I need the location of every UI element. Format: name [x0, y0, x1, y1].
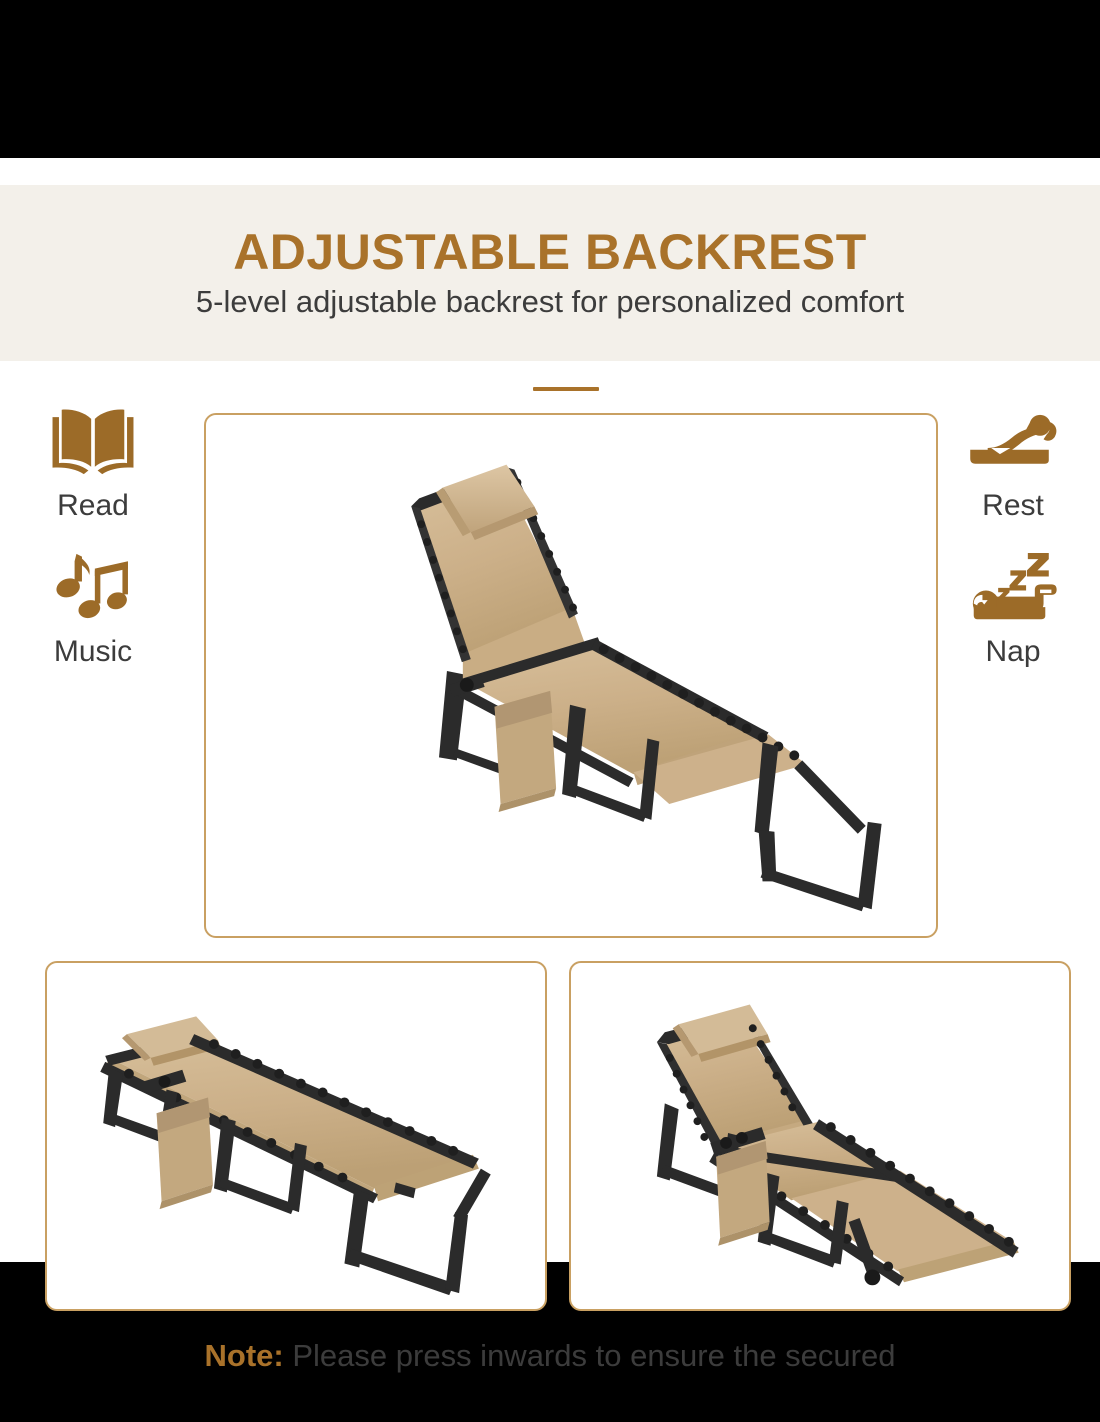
open-book-icon [45, 403, 141, 479]
music-notes-icon [45, 549, 141, 625]
product-panel-flat[interactable] [45, 961, 547, 1311]
person-sleeping-zzz-icon [965, 549, 1061, 625]
person-reclining-icon [965, 403, 1061, 479]
feature-column-left: Read [18, 403, 168, 695]
feature-item-read: Read [45, 403, 141, 521]
note-text: Please press inwards to ensure the secur… [292, 1338, 895, 1373]
section-divider-dash [533, 387, 599, 391]
feature-item-music: Music [45, 549, 141, 667]
product-panel-reclined[interactable] [569, 961, 1071, 1311]
feature-item-nap: Nap [965, 549, 1061, 667]
note-row: Note: Please press inwards to ensure the… [0, 1338, 1100, 1374]
feature-column-right: Rest [938, 403, 1088, 695]
header-band: ADJUSTABLE BACKREST 5-level adjustable b… [0, 185, 1100, 361]
chaise-lounger-reclined-position [571, 963, 1069, 1309]
feature-label-nap: Nap [985, 637, 1040, 667]
feature-label-read: Read [57, 491, 129, 521]
chaise-lounger-flat-bed-position [47, 963, 545, 1309]
letterbox-top-bar [0, 0, 1100, 158]
note-label: Note: [205, 1338, 293, 1373]
chaise-lounger-upright-position [206, 415, 936, 936]
feature-label-rest: Rest [982, 491, 1044, 521]
product-panel-upright[interactable] [204, 413, 938, 938]
infographic-canvas: ADJUSTABLE BACKREST 5-level adjustable b… [0, 0, 1100, 1422]
infographic-sheet: ADJUSTABLE BACKREST 5-level adjustable b… [0, 158, 1100, 1262]
feature-label-music: Music [54, 637, 132, 667]
feature-item-rest: Rest [965, 403, 1061, 521]
page-subtitle: 5-level adjustable backrest for personal… [196, 284, 904, 320]
page-title: ADJUSTABLE BACKREST [233, 226, 867, 279]
